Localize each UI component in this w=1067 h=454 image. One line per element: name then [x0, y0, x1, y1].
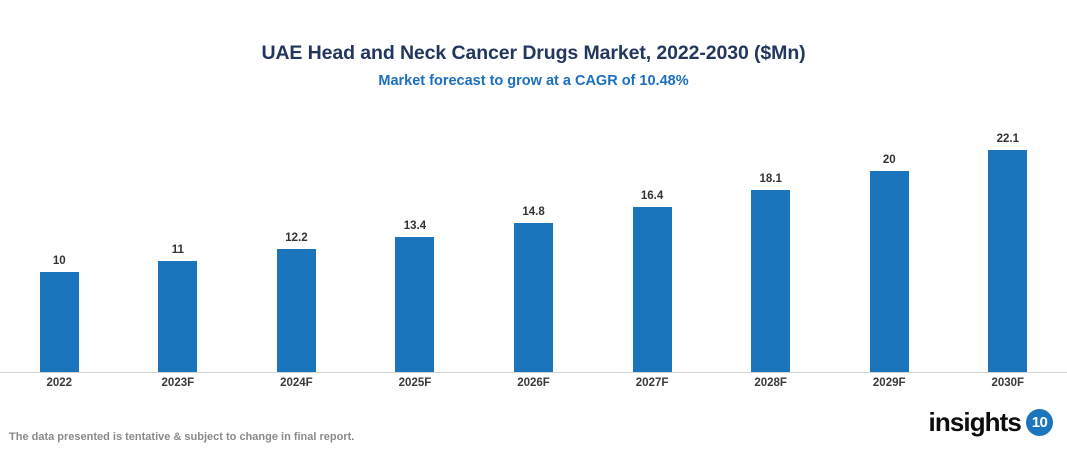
disclaimer-text: The data presented is tentative & subjec…	[9, 430, 354, 444]
bar-value-label: 13.4	[404, 220, 426, 233]
bar-value-label: 20	[883, 154, 896, 167]
x-axis-tick: 2030F	[949, 376, 1067, 391]
bar	[751, 190, 790, 372]
page-title: UAE Head and Neck Cancer Drugs Market, 2…	[0, 40, 1067, 66]
bar-group: 11	[119, 110, 238, 372]
chart-subtitle: Market forecast to grow at a CAGR of 10.…	[0, 71, 1067, 91]
x-axis-tick: 2022	[0, 376, 119, 391]
bar-value-label: 14.8	[522, 206, 544, 219]
chart-page: UAE Head and Neck Cancer Drugs Market, 2…	[0, 0, 1067, 454]
insights10-logo: insights 10	[929, 406, 1053, 438]
bar	[870, 171, 909, 372]
bar-group: 22.1	[949, 110, 1067, 372]
bar	[988, 150, 1027, 372]
bar-value-label: 12.2	[285, 232, 307, 245]
bar	[633, 207, 672, 372]
x-axis-tick: 2027F	[593, 376, 712, 391]
chart-header: UAE Head and Neck Cancer Drugs Market, 2…	[0, 40, 1067, 91]
bar-group: 18.1	[711, 110, 830, 372]
x-axis-tick: 2029F	[830, 376, 949, 391]
plot-area: 101112.213.414.816.418.12022.1	[0, 110, 1067, 373]
bar	[40, 272, 79, 373]
bar-group: 10	[0, 110, 119, 372]
bar-group: 14.8	[474, 110, 593, 372]
bar-value-label: 18.1	[759, 173, 781, 186]
x-axis-tick: 2023F	[119, 376, 238, 391]
bar	[395, 237, 434, 372]
bar-value-label: 10	[53, 255, 66, 268]
bar	[514, 223, 553, 372]
x-axis-line	[0, 372, 1067, 373]
bar-group: 16.4	[593, 110, 712, 372]
bar-group: 20	[830, 110, 949, 372]
bar-series: 101112.213.414.816.418.12022.1	[0, 110, 1067, 372]
logo-wordmark: insights	[929, 408, 1021, 436]
x-axis-tick: 2024F	[237, 376, 356, 391]
bar-group: 13.4	[356, 110, 475, 372]
bar-value-label: 22.1	[997, 133, 1019, 146]
bar	[158, 261, 197, 372]
x-axis-labels: 20222023F2024F2025F2026F2027F2028F2029F2…	[0, 376, 1067, 391]
bar	[277, 249, 316, 372]
bar-value-label: 11	[172, 244, 184, 257]
logo-badge-icon: 10	[1026, 409, 1053, 436]
x-axis-tick: 2026F	[474, 376, 593, 391]
x-axis-tick: 2028F	[711, 376, 830, 391]
bar-group: 12.2	[237, 110, 356, 372]
bar-value-label: 16.4	[641, 190, 663, 203]
x-axis-tick: 2025F	[356, 376, 475, 391]
